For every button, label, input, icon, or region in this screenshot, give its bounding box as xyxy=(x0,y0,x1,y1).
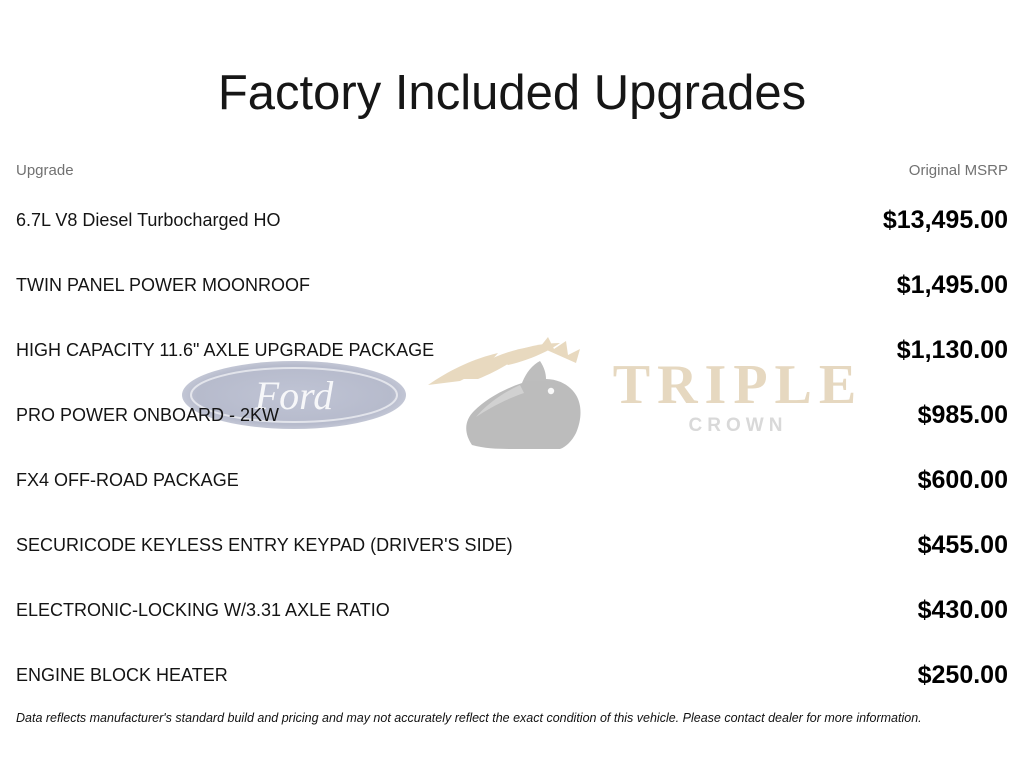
upgrade-name: 6.7L V8 Diesel Turbocharged HO xyxy=(16,210,280,231)
table-row: PRO POWER ONBOARD - 2KW $985.00 xyxy=(0,383,1024,448)
table-row: SECURICODE KEYLESS ENTRY KEYPAD (DRIVER'… xyxy=(0,513,1024,578)
upgrade-name: ENGINE BLOCK HEATER xyxy=(16,665,228,686)
upgrade-name: FX4 OFF-ROAD PACKAGE xyxy=(16,470,239,491)
table-row: TWIN PANEL POWER MOONROOF $1,495.00 xyxy=(0,253,1024,318)
upgrade-name: HIGH CAPACITY 11.6" AXLE UPGRADE PACKAGE xyxy=(16,340,434,361)
upgrades-table: Upgrade Original MSRP 6.7L V8 Diesel Tur… xyxy=(0,152,1024,708)
upgrade-price: $600.00 xyxy=(918,466,1008,495)
table-row: ENGINE BLOCK HEATER $250.00 xyxy=(0,643,1024,708)
upgrade-name: ELECTRONIC-LOCKING W/3.31 AXLE RATIO xyxy=(16,600,390,621)
disclaimer-text: Data reflects manufacturer's standard bu… xyxy=(16,711,1008,725)
upgrade-price: $430.00 xyxy=(918,596,1008,625)
upgrade-price: $1,495.00 xyxy=(897,271,1008,300)
upgrade-price: $455.00 xyxy=(918,531,1008,560)
column-header-upgrade: Upgrade xyxy=(16,162,74,179)
table-row: ELECTRONIC-LOCKING W/3.31 AXLE RATIO $43… xyxy=(0,578,1024,643)
upgrade-price: $1,130.00 xyxy=(897,336,1008,365)
factory-upgrades-page: Ford TRIPLE xyxy=(0,0,1024,768)
page-title: Factory Included Upgrades xyxy=(0,69,1024,118)
upgrade-name: SECURICODE KEYLESS ENTRY KEYPAD (DRIVER'… xyxy=(16,535,513,556)
upgrade-name: TWIN PANEL POWER MOONROOF xyxy=(16,275,310,296)
upgrade-price: $13,495.00 xyxy=(883,206,1008,235)
table-row: FX4 OFF-ROAD PACKAGE $600.00 xyxy=(0,448,1024,513)
upgrade-name: PRO POWER ONBOARD - 2KW xyxy=(16,405,279,426)
table-row: 6.7L V8 Diesel Turbocharged HO $13,495.0… xyxy=(0,188,1024,253)
table-row: HIGH CAPACITY 11.6" AXLE UPGRADE PACKAGE… xyxy=(0,318,1024,383)
upgrade-price: $250.00 xyxy=(918,661,1008,690)
upgrade-price: $985.00 xyxy=(918,401,1008,430)
column-header-msrp: Original MSRP xyxy=(909,162,1008,179)
table-header-row: Upgrade Original MSRP xyxy=(0,152,1024,188)
